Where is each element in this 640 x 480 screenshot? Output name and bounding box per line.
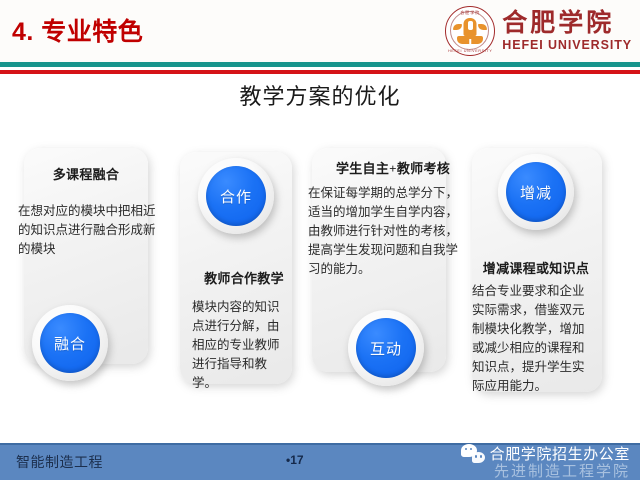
badge-label-1: 融合 [54,333,86,354]
logo-name-english: HEFEI UNIVERSITY [502,39,632,52]
wechat-dot [475,455,477,457]
university-seal-icon: 合肥学院 HEFEI UNIVERSITY [445,6,495,56]
seal-book-icon [457,36,483,44]
logo-name-chinese: 合肥学院 [502,11,632,36]
wechat-dot [480,455,482,457]
wechat-icon [461,444,485,463]
slide-footer: 智能制造工程 •17 先进制造工程学院 合肥学院招生办公室 [0,443,640,480]
wechat-dot [465,448,467,450]
card-body-1: 在想对应的模块中把相近的知识点进行融合形成新的模块 [18,202,158,259]
card-badge-4[interactable]: 增减 [498,154,574,230]
card-badge-2[interactable]: 合作 [198,158,274,234]
card-body-4: 结合专业要求和企业实际需求，借鉴双元制模块化教学，增加或减少相应的课程和知识点，… [472,282,596,396]
wechat-account-name: 合肥学院招生办公室 [490,443,630,464]
card-heading-3: 学生自主+教师考核 [296,158,490,177]
slide-canvas: 4. 专业特色 合肥学院 HEFEI UNIVERSITY 合肥学院 HEFEI… [0,0,640,480]
badge-disc: 融合 [40,313,100,373]
card-body-3: 在保证每学期的总学分下，适当的增加学生自学内容，由教师进行针对性的考核，提高学生… [308,184,466,279]
seal-english-text: HEFEI UNIVERSITY [446,49,494,53]
university-logo: 合肥学院 HEFEI UNIVERSITY 合肥学院 HEFEI UNIVERS… [445,6,632,56]
badge-label-4: 增减 [520,182,552,203]
card-column-3: 学生自主+教师考核 在保证每学期的总学分下，适当的增加学生自学内容，由教师进行针… [300,140,460,420]
card-group: 多课程融合 在想对应的模块中把相近的知识点进行融合形成新的模块 融合 合作 教师… [0,140,640,420]
badge-disc: 增减 [506,162,566,222]
card-body-2: 模块内容的知识点进行分解，由相应的专业教师进行指导和教学。 [192,298,288,393]
footer-program-label: 智能制造工程 [16,452,103,472]
header-rule-red [0,70,640,74]
page-number: •17 [286,453,304,467]
wechat-bubble-small [472,452,485,463]
content-title: 教学方案的优化 [0,79,640,111]
badge-label-2: 合作 [220,186,252,207]
card-heading-4: 增减课程或知识点 [460,258,612,277]
badge-disc: 互动 [356,318,416,378]
card-badge-3[interactable]: 互动 [348,310,424,386]
badge-label-3: 互动 [370,338,402,359]
card-column-4: 增减 增减课程或知识点 结合专业要求和企业实际需求，借鉴双元制模块化教学，增加或… [462,140,622,420]
card-column-1: 多课程融合 在想对应的模块中把相近的知识点进行融合形成新的模块 融合 [6,140,166,420]
badge-disc: 合作 [206,166,266,226]
page-title: 4. 专业特色 [12,12,143,48]
card-badge-1[interactable]: 融合 [32,305,108,381]
seal-torch-icon [464,18,477,36]
card-heading-1: 多课程融合 [6,164,166,183]
seal-chinese-text: 合肥学院 [446,10,494,16]
logo-wordmark: 合肥学院 HEFEI UNIVERSITY [502,11,632,52]
slide-header: 4. 专业特色 合肥学院 HEFEI UNIVERSITY 合肥学院 HEFEI… [0,0,640,62]
wechat-watermark: 合肥学院招生办公室 [461,443,630,464]
